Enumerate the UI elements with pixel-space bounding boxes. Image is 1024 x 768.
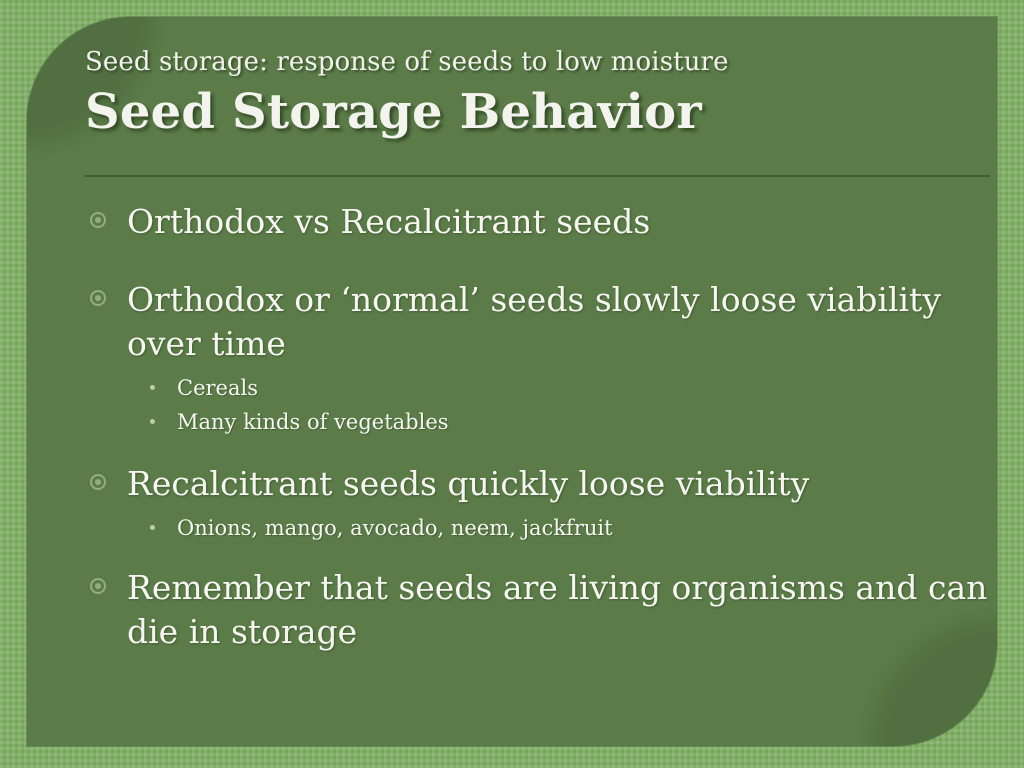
bullet-list: Orthodox vs Recalcitrant seeds Orthodox … — [85, 200, 1015, 660]
spacer — [85, 250, 1015, 278]
bullet-text: Recalcitrant seeds quickly loose viabili… — [127, 462, 809, 506]
sub-bullet-text: Onions, mango, avocado, neem, jackfruit — [177, 516, 613, 540]
ring-bullet-icon — [90, 578, 106, 594]
slide-title: Seed Storage Behavior — [85, 82, 995, 142]
dot-bullet-icon — [150, 525, 155, 530]
slide-content-panel: Seed storage: response of seeds to low m… — [27, 17, 997, 746]
bullet-item: Remember that seeds are living organisms… — [85, 566, 1015, 654]
sub-bullet-text: Cereals — [177, 376, 258, 400]
dot-bullet-icon — [150, 419, 155, 424]
bullet-item: Recalcitrant seeds quickly loose viabili… — [85, 462, 1015, 506]
ring-bullet-icon — [90, 212, 106, 228]
sub-bullet-list: Cereals Many kinds of vegetables — [85, 372, 1015, 438]
bullet-item: Orthodox or ‘normal’ seeds slowly loose … — [85, 278, 1015, 366]
slide-canvas: Seed storage: response of seeds to low m… — [0, 0, 1024, 768]
sub-bullet-item: Cereals — [85, 372, 1015, 404]
bullet-item: Orthodox vs Recalcitrant seeds — [85, 200, 1015, 244]
spacer — [85, 546, 1015, 566]
bullet-text: Orthodox or ‘normal’ seeds slowly loose … — [127, 278, 1007, 366]
ring-bullet-icon — [90, 290, 106, 306]
sub-bullet-item: Many kinds of vegetables — [85, 406, 1015, 438]
title-block: Seed storage: response of seeds to low m… — [85, 45, 995, 142]
spacer — [85, 440, 1015, 462]
title-divider — [85, 175, 990, 177]
dot-bullet-icon — [150, 385, 155, 390]
sub-bullet-item: Onions, mango, avocado, neem, jackfruit — [85, 512, 1015, 544]
bullet-text: Orthodox vs Recalcitrant seeds — [127, 200, 650, 244]
ring-bullet-icon — [90, 474, 106, 490]
slide-subtitle: Seed storage: response of seeds to low m… — [85, 45, 995, 79]
sub-bullet-text: Many kinds of vegetables — [177, 410, 449, 434]
sub-bullet-list: Onions, mango, avocado, neem, jackfruit — [85, 512, 1015, 544]
bullet-text: Remember that seeds are living organisms… — [127, 566, 1007, 654]
